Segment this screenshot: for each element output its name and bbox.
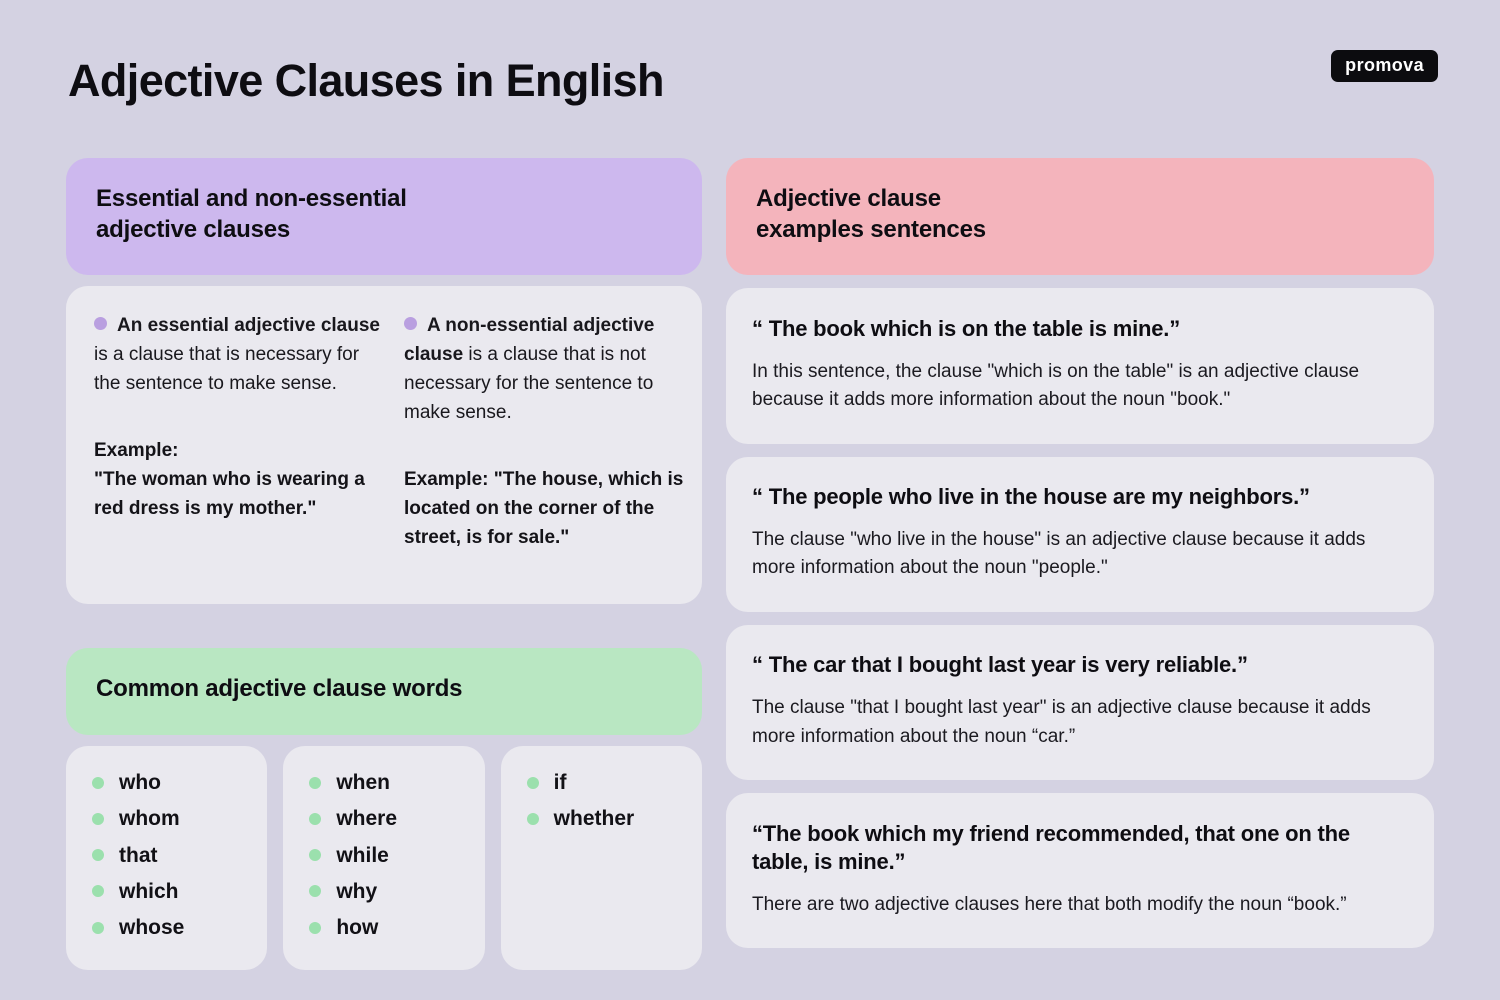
bullet-dot-icon [309,849,321,861]
definition-column-non-essential: A non-essential adjective clause is a cl… [404,312,694,574]
word-item[interactable]: that [92,843,245,868]
bullet-dot-icon [92,849,104,861]
word-item[interactable]: whose [92,915,245,940]
bullet-dot-icon [94,317,107,330]
example-quote: “ The car that I bought last year is ver… [752,651,1408,680]
words-section-header: Common adjective clause words [66,648,702,735]
page-header: Adjective Clauses in English promova [0,0,1500,150]
example-quote: “ The book which is on the table is mine… [752,315,1408,344]
word-label: which [119,879,179,904]
bullet-dot-icon [309,885,321,897]
word-item[interactable]: while [309,843,462,868]
definitions-card: An essential adjective clause is a claus… [66,286,702,604]
definition-text-non-essential: A non-essential adjective clause is a cl… [404,312,694,428]
example-card-2: “ The people who live in the house are m… [726,457,1434,612]
example-note: The clause "that I bought last year" is … [752,694,1408,751]
example-quote: “The book which my friend recommended, t… [752,820,1408,877]
bullet-dot-icon [527,813,539,825]
words-heading: Common adjective clause words [96,674,672,705]
word-label: where [336,806,397,831]
word-label: that [119,843,158,868]
word-label: whether [554,806,635,831]
examples-section-header: Adjective clause examples sentences [726,158,1434,275]
word-label: how [336,915,378,940]
definition-term-essential: An essential adjective clause [117,315,380,336]
left-column: Essential and non-essential adjective cl… [66,158,702,948]
word-item[interactable]: when [309,770,462,795]
right-column: Adjective clause examples sentences “ Th… [726,158,1434,948]
example-card-4: “The book which my friend recommended, t… [726,793,1434,948]
bullet-dot-icon [309,813,321,825]
word-label: when [336,770,390,795]
word-item[interactable]: who [92,770,245,795]
word-label: while [336,843,389,868]
word-item[interactable]: which [92,879,245,904]
examples-heading-line-2: examples sentences [756,215,1404,246]
bullet-dot-icon [92,813,104,825]
words-card-1: who whom that which whose [66,746,267,970]
example-note: There are two adjective clauses here tha… [752,891,1408,920]
page-title: Adjective Clauses in English [68,55,664,107]
examples-heading-line-1: Adjective clause [756,184,1404,215]
bullet-dot-icon [92,885,104,897]
word-item[interactable]: why [309,879,462,904]
word-item[interactable]: how [309,915,462,940]
word-item[interactable]: whether [527,806,680,831]
word-item[interactable]: where [309,806,462,831]
word-label: whose [119,915,184,940]
bullet-dot-icon [527,777,539,789]
words-columns: who whom that which whose [66,746,702,970]
word-label: who [119,770,161,795]
definition-column-essential: An essential adjective clause is a claus… [94,312,384,574]
definition-example-non-essential: Example: "The house, which is located on… [404,466,694,553]
example-label-non-essential: Example: [404,469,488,490]
bullet-dot-icon [309,922,321,934]
promova-logo: promova [1331,50,1438,82]
example-note: The clause "who live in the house" is an… [752,526,1408,583]
essential-heading-line-2: adjective clauses [96,215,672,246]
word-label: whom [119,806,180,831]
example-card-1: “ The book which is on the table is mine… [726,288,1434,443]
bullet-dot-icon [404,317,417,330]
bullet-dot-icon [309,777,321,789]
bullet-dot-icon [92,922,104,934]
essential-heading-line-1: Essential and non-essential [96,184,672,215]
essential-section-header: Essential and non-essential adjective cl… [66,158,702,275]
example-text-essential: "The woman who is wearing a red dress is… [94,466,384,524]
words-card-3: if whether [501,746,702,970]
bullet-dot-icon [92,777,104,789]
word-label: if [554,770,567,795]
word-item[interactable]: whom [92,806,245,831]
content-board: Essential and non-essential adjective cl… [0,158,1500,948]
example-note: In this sentence, the clause "which is o… [752,358,1408,415]
definition-text-essential: An essential adjective clause is a claus… [94,312,384,399]
example-label-essential: Example: [94,437,384,466]
definition-rest-essential: is a clause that is necessary for the se… [94,344,359,394]
words-card-2: when where while why how [283,746,484,970]
example-quote: “ The people who live in the house are m… [752,483,1408,512]
example-card-3: “ The car that I bought last year is ver… [726,625,1434,780]
word-item[interactable]: if [527,770,680,795]
definition-example-essential: Example: "The woman who is wearing a red… [94,437,384,524]
word-label: why [336,879,377,904]
